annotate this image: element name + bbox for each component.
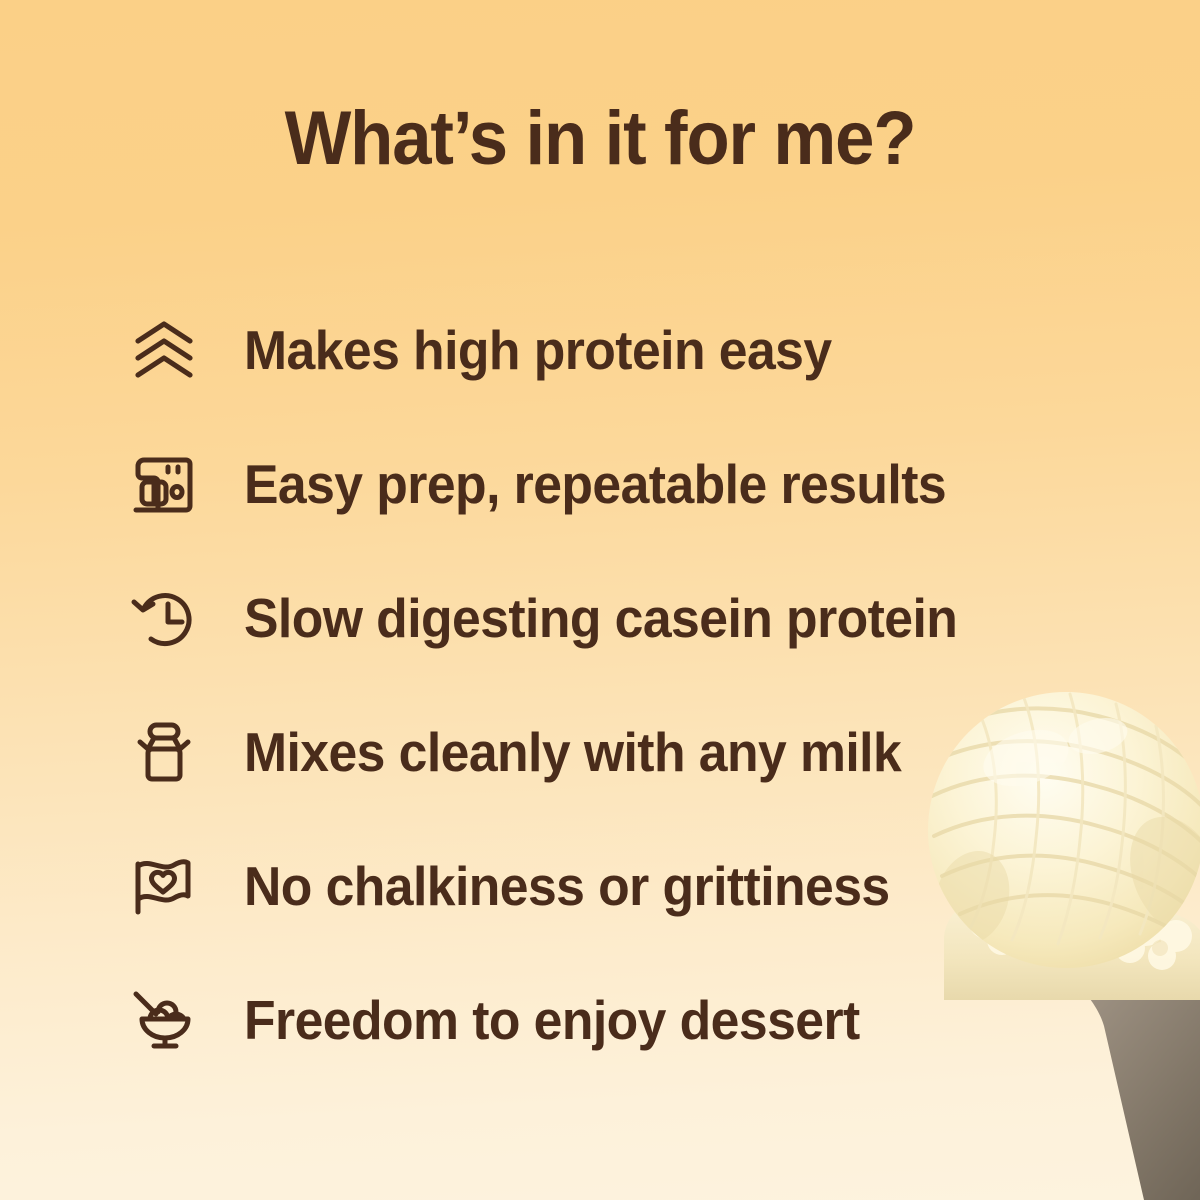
feature-item: Freedom to enjoy dessert bbox=[128, 953, 1088, 1087]
feature-label: Makes high protein easy bbox=[244, 320, 832, 380]
ice-cream-bowl-icon bbox=[128, 981, 206, 1059]
feature-label: Easy prep, repeatable results bbox=[244, 454, 946, 514]
flag-heart-icon bbox=[128, 847, 206, 925]
feature-list: Makes high protein easy bbox=[128, 283, 1088, 1087]
clock-rewind-icon bbox=[128, 579, 206, 657]
feature-label: Freedom to enjoy dessert bbox=[244, 990, 860, 1050]
promo-poster: What’s in it for me? Makes high protein … bbox=[0, 0, 1200, 1200]
feature-item: Makes high protein easy bbox=[128, 283, 1088, 417]
feature-item: Slow digesting casein protein bbox=[128, 551, 1088, 685]
feature-item: Easy prep, repeatable results bbox=[128, 417, 1088, 551]
feature-label: Mixes cleanly with any milk bbox=[244, 722, 901, 782]
stand-mixer-icon bbox=[128, 445, 206, 523]
feature-label: No chalkiness or grittiness bbox=[244, 856, 890, 916]
feature-item: No chalkiness or grittiness bbox=[128, 819, 1088, 953]
milk-can-icon bbox=[128, 713, 206, 791]
feature-item: Mixes cleanly with any milk bbox=[128, 685, 1088, 819]
chevrons-up-icon bbox=[128, 311, 206, 389]
page-title: What’s in it for me? bbox=[42, 96, 1158, 182]
feature-label: Slow digesting casein protein bbox=[244, 588, 957, 648]
